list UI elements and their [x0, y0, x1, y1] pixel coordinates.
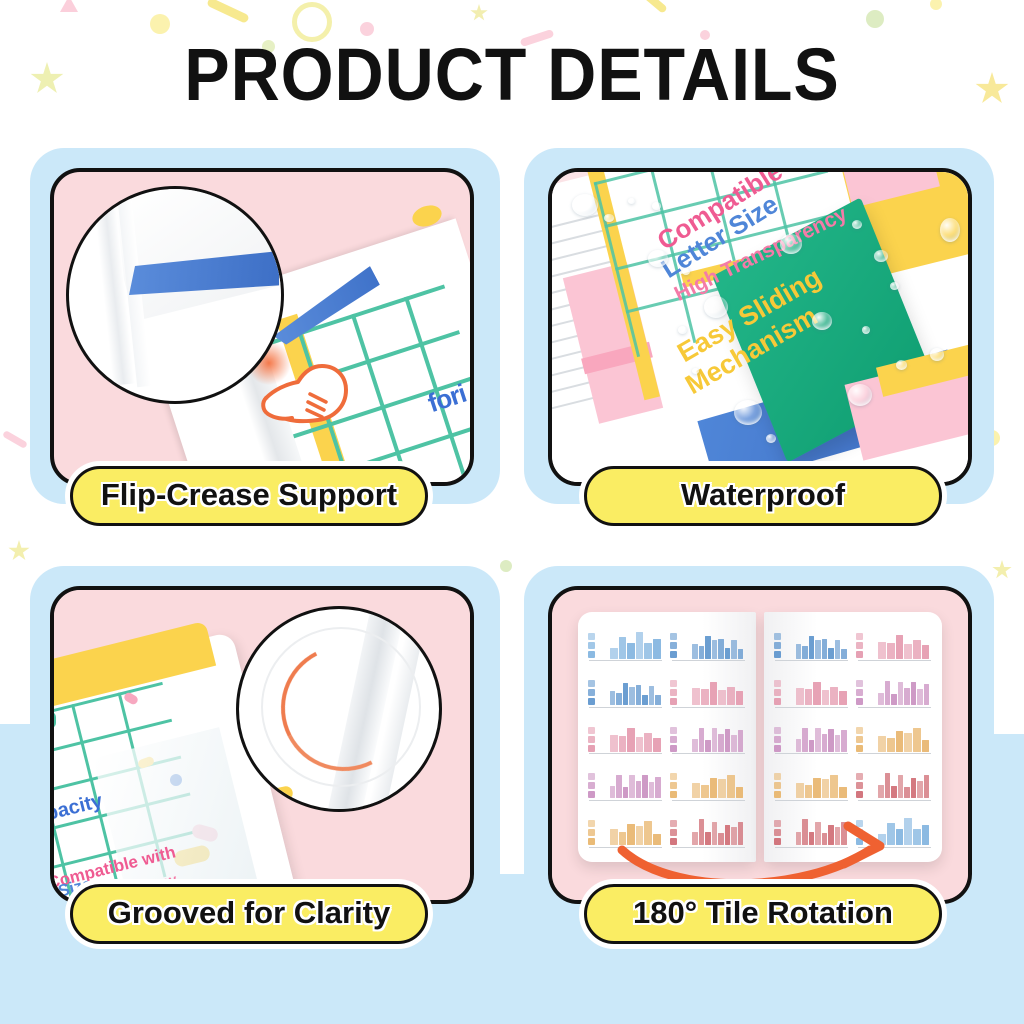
- panel-label-flip-crease-support[interactable]: Flip-Crease Support: [70, 466, 428, 526]
- water-droplet: [682, 268, 690, 275]
- chart-axis: [858, 753, 931, 754]
- chart-bar: [705, 740, 710, 752]
- chart-bar: [922, 645, 930, 659]
- chart-legend: [774, 773, 781, 798]
- water-droplet: [930, 348, 944, 361]
- panel-grooved-for-clarity[interactable]: rge Capacity Compatible with Size arency…: [30, 566, 500, 958]
- chart-bar: [619, 637, 627, 659]
- chart-bar: [828, 729, 833, 752]
- chart-bar: [699, 728, 704, 752]
- chart-bar: [841, 649, 846, 659]
- chart-bar: [692, 644, 697, 659]
- chart-bar: [710, 778, 718, 799]
- legend-swatch: [856, 689, 863, 696]
- panel-waterproof[interactable]: Compatible with Letter Size High Transpa…: [524, 148, 994, 540]
- chart-bar: [878, 642, 886, 659]
- chart-bar: [627, 728, 635, 752]
- chart-bar: [610, 735, 618, 752]
- chart-bars: [692, 723, 743, 752]
- chart-axis: [775, 753, 848, 754]
- chart-axis: [775, 800, 848, 801]
- chart-bar: [610, 648, 618, 659]
- chart-bars: [878, 723, 929, 752]
- chart-legend: [588, 820, 595, 845]
- chart-bar: [692, 783, 700, 799]
- legend-swatch: [670, 698, 677, 705]
- chart-bar: [727, 775, 735, 799]
- chart-bar: [610, 786, 615, 798]
- chart-axis: [858, 800, 931, 801]
- chart-thumbnail: [855, 762, 935, 806]
- chart-bar: [649, 782, 654, 799]
- chart-thumbnail: [669, 762, 749, 806]
- legend-swatch: [670, 782, 677, 789]
- chart-bar: [922, 740, 930, 752]
- chart-bar: [644, 643, 652, 659]
- chart-bar: [705, 636, 710, 658]
- water-droplet: [812, 312, 832, 330]
- legend-swatch: [670, 727, 677, 734]
- legend-swatch: [774, 698, 781, 705]
- chart-bars: [692, 630, 743, 659]
- panel-tile-rotation[interactable]: 180° Tile Rotation: [524, 566, 994, 958]
- legend-swatch: [856, 736, 863, 743]
- chart-thumbnail: [669, 715, 749, 759]
- chart-bar: [904, 688, 909, 706]
- water-droplet: [766, 434, 776, 443]
- chart-bar: [736, 787, 744, 799]
- chart-bar: [904, 787, 909, 799]
- legend-swatch: [856, 642, 863, 649]
- chart-bar: [802, 728, 807, 752]
- legend-swatch: [774, 773, 781, 780]
- chart-bar: [896, 731, 904, 752]
- legend-swatch: [588, 642, 595, 649]
- chart-bar: [731, 640, 736, 659]
- chart-bar: [887, 643, 895, 659]
- panel-label-grooved-for-clarity[interactable]: Grooved for Clarity: [70, 884, 428, 944]
- chart-axis: [858, 707, 931, 708]
- chart-bar: [623, 683, 628, 705]
- chart-bar: [619, 736, 627, 752]
- dot-icon: [150, 14, 170, 34]
- chart-thumbnail: [586, 715, 666, 759]
- chart-bar: [839, 787, 847, 799]
- chart-bar: [885, 773, 890, 799]
- chart-bars: [878, 676, 929, 705]
- chart-axis: [672, 707, 745, 708]
- chart-bar: [627, 643, 635, 659]
- water-droplet: [734, 400, 762, 425]
- chart-bar: [796, 644, 801, 659]
- chart-bar: [896, 635, 904, 659]
- chart-legend: [856, 680, 863, 705]
- legend-swatch: [588, 651, 595, 658]
- chart-bar: [725, 648, 730, 658]
- chart-legend: [856, 633, 863, 658]
- chart-bar: [828, 648, 833, 658]
- panel-photo: rge Capacity Compatible with Size arency: [50, 586, 474, 904]
- legend-swatch: [856, 745, 863, 752]
- legend-swatch: [588, 820, 595, 827]
- water-droplet: [652, 202, 661, 210]
- chart-thumbnail-grid: [586, 622, 748, 852]
- chart-bar: [924, 775, 929, 798]
- legend-swatch: [856, 791, 863, 798]
- chart-bar: [636, 781, 641, 799]
- chart-bar: [822, 639, 827, 659]
- chart-bar: [727, 687, 735, 706]
- legend-swatch: [588, 689, 595, 696]
- legend-swatch: [774, 782, 781, 789]
- chart-bar: [712, 640, 717, 658]
- chart-bar: [891, 694, 896, 706]
- chart-bar: [904, 818, 912, 845]
- legend-swatch: [774, 745, 781, 752]
- chart-bar: [738, 649, 743, 659]
- legend-swatch: [774, 736, 781, 743]
- legend-swatch: [588, 782, 595, 789]
- chart-bar: [616, 693, 621, 705]
- magnifier-circle: [66, 186, 284, 404]
- chart-bar: [887, 738, 895, 752]
- curved-arrow-icon: [612, 820, 902, 890]
- chart-legend: [588, 680, 595, 705]
- chart-axis: [589, 660, 662, 661]
- chart-bar: [815, 728, 820, 752]
- chart-bars: [878, 630, 929, 659]
- chart-thumbnail: [772, 669, 852, 713]
- legend-swatch: [670, 736, 677, 743]
- legend-swatch: [588, 745, 595, 752]
- chart-legend: [774, 633, 781, 658]
- chart-bar: [796, 739, 801, 751]
- chart-bars: [610, 630, 661, 659]
- legend-swatch: [588, 791, 595, 798]
- legend-swatch: [774, 727, 781, 734]
- chart-bar: [623, 787, 628, 799]
- chart-bars: [692, 770, 743, 799]
- chart-bar: [885, 681, 890, 705]
- chart-legend: [774, 727, 781, 752]
- legend-swatch: [774, 651, 781, 658]
- water-droplet: [628, 198, 635, 204]
- chart-bar: [911, 778, 916, 798]
- chart-bar: [813, 778, 821, 799]
- chart-thumbnail: [586, 669, 666, 713]
- chart-bar: [809, 636, 814, 658]
- legend-swatch: [670, 773, 677, 780]
- legend-swatch: [670, 745, 677, 752]
- chart-bar: [815, 640, 820, 658]
- legend-swatch: [774, 633, 781, 640]
- bar-icon: [206, 0, 250, 24]
- chart-bar: [692, 739, 697, 751]
- chart-bar: [878, 693, 883, 705]
- chart-bar: [830, 687, 838, 706]
- chart-bar: [805, 785, 813, 799]
- infographic-canvas: PRODUCT DETAILS: [0, 0, 1024, 1024]
- chart-bar: [839, 691, 847, 705]
- chart-thumbnail: [772, 622, 852, 666]
- chart-bar: [725, 729, 730, 752]
- chart-legend: [856, 773, 863, 798]
- legend-swatch: [856, 727, 863, 734]
- panel-photo: [548, 586, 972, 904]
- chart-thumbnail: [669, 669, 749, 713]
- chart-axis: [589, 707, 662, 708]
- chart-bar: [653, 639, 661, 659]
- chart-bar: [736, 691, 744, 705]
- chart-thumbnail: [855, 715, 935, 759]
- chart-bar: [796, 688, 804, 705]
- chart-bar: [655, 777, 660, 799]
- chart-bar: [642, 775, 647, 798]
- chart-legend: [670, 680, 677, 705]
- chart-bar: [642, 695, 647, 705]
- legend-swatch: [588, 838, 595, 845]
- chart-bar: [655, 695, 660, 705]
- chart-bar: [718, 639, 723, 659]
- chart-bars: [610, 676, 661, 705]
- chart-bar: [710, 682, 718, 706]
- chart-bar: [701, 689, 709, 705]
- chart-legend: [670, 727, 677, 752]
- chart-axis: [672, 800, 745, 801]
- chart-legend: [670, 633, 677, 658]
- chart-bar: [616, 775, 621, 799]
- chart-bar: [835, 640, 840, 659]
- chart-axis: [589, 800, 662, 801]
- water-droplet: [604, 214, 614, 222]
- chart-bar: [653, 738, 661, 752]
- chart-thumbnail: [772, 715, 852, 759]
- chart-thumbnail: [855, 622, 935, 666]
- chart-bar: [610, 691, 615, 706]
- legend-swatch: [856, 782, 863, 789]
- chart-bar: [835, 735, 840, 752]
- chart-axis: [858, 660, 931, 661]
- chart-bar: [738, 730, 743, 752]
- legend-swatch: [588, 736, 595, 743]
- dot-icon: [930, 0, 942, 10]
- star-icon: [992, 560, 1012, 580]
- chart-bars: [610, 770, 661, 799]
- chart-bar: [878, 785, 883, 799]
- legend-swatch: [856, 651, 863, 658]
- water-droplet: [896, 360, 907, 370]
- chart-axis: [672, 753, 745, 754]
- chart-bar: [898, 682, 903, 706]
- legend-swatch: [670, 633, 677, 640]
- legend-swatch: [670, 791, 677, 798]
- water-droplet: [678, 326, 687, 334]
- chart-axis: [775, 707, 848, 708]
- bar-icon: [632, 0, 668, 14]
- bar-icon: [2, 430, 28, 449]
- chart-legend: [588, 773, 595, 798]
- chart-bar: [898, 775, 903, 798]
- water-droplet: [874, 250, 888, 262]
- legend-swatch: [856, 773, 863, 780]
- panel-photo: fori: [50, 168, 474, 486]
- water-droplet: [704, 296, 728, 318]
- chart-bar: [636, 737, 644, 752]
- legend-swatch: [588, 680, 595, 687]
- legend-swatch: [588, 773, 595, 780]
- water-droplet: [890, 282, 899, 290]
- chart-bars: [692, 676, 743, 705]
- chart-bar: [644, 733, 652, 752]
- legend-swatch: [588, 829, 595, 836]
- water-droplet: [852, 220, 862, 229]
- chart-bar: [802, 646, 807, 658]
- water-droplet: [848, 384, 872, 406]
- chart-bar: [699, 646, 704, 658]
- magnifier-circle: [236, 606, 442, 812]
- chart-bar: [891, 786, 896, 799]
- panel-flip-crease-support[interactable]: fori: [30, 148, 500, 540]
- water-droplet: [862, 326, 870, 334]
- chart-bar: [822, 779, 830, 798]
- legend-swatch: [856, 680, 863, 687]
- legend-swatch: [774, 642, 781, 649]
- chart-thumbnail: [669, 622, 749, 666]
- chart-bar: [809, 740, 814, 752]
- legend-swatch: [774, 689, 781, 696]
- chart-bar: [922, 825, 930, 845]
- panel-label-tile-rotation[interactable]: 180° Tile Rotation: [584, 884, 942, 944]
- chart-bar: [913, 640, 921, 659]
- triangle-icon: [60, 0, 78, 12]
- chart-axis: [589, 753, 662, 754]
- chart-bars: [796, 770, 847, 799]
- panel-grid: fori: [30, 148, 994, 958]
- chart-bar: [904, 733, 912, 752]
- legend-swatch: [670, 680, 677, 687]
- chart-legend: [774, 680, 781, 705]
- legend-swatch: [774, 680, 781, 687]
- chart-bar: [841, 730, 846, 752]
- star-icon: [470, 4, 488, 22]
- chart-bar: [718, 690, 726, 705]
- water-droplet: [940, 218, 960, 242]
- chart-thumbnail: [586, 762, 666, 806]
- chart-bar: [629, 775, 634, 799]
- chart-thumbnail: [772, 762, 852, 806]
- chart-bar: [813, 682, 821, 706]
- chart-bar: [796, 783, 804, 799]
- legend-swatch: [856, 633, 863, 640]
- chart-bar: [917, 781, 922, 799]
- chart-bar: [649, 686, 654, 705]
- chart-bars: [796, 723, 847, 752]
- water-droplet: [648, 250, 668, 267]
- chart-bar: [822, 734, 827, 752]
- page-title: PRODUCT DETAILS: [41, 38, 983, 112]
- star-icon: [8, 540, 30, 562]
- chart-bar: [924, 684, 929, 706]
- chart-thumbnail: [586, 622, 666, 666]
- chart-thumbnail-grid: [772, 622, 934, 852]
- chart-legend: [588, 633, 595, 658]
- chart-bar: [911, 682, 916, 705]
- chart-bar: [822, 690, 830, 705]
- chart-bar: [692, 688, 700, 705]
- chart-thumbnail: [855, 669, 935, 713]
- chart-bar: [731, 735, 736, 752]
- chart-bar: [830, 775, 838, 799]
- water-droplet: [780, 234, 802, 254]
- chart-bar: [878, 736, 886, 752]
- legend-swatch: [670, 651, 677, 658]
- legend-swatch: [856, 698, 863, 705]
- legend-swatch: [588, 633, 595, 640]
- chart-bar: [718, 734, 723, 752]
- chart-bars: [796, 676, 847, 705]
- panel-label-waterproof[interactable]: Waterproof: [584, 466, 942, 526]
- legend-swatch: [774, 791, 781, 798]
- chart-bar: [913, 829, 921, 845]
- chart-bars: [796, 630, 847, 659]
- chart-legend: [670, 773, 677, 798]
- chart-bar: [712, 728, 717, 752]
- chart-bar: [636, 632, 644, 659]
- panel-photo: Compatible with Letter Size High Transpa…: [548, 168, 972, 486]
- dot-icon: [866, 10, 884, 28]
- chart-axis: [672, 660, 745, 661]
- chart-legend: [856, 727, 863, 752]
- water-droplet: [692, 368, 699, 374]
- chart-bar: [701, 785, 709, 799]
- chart-axis: [775, 660, 848, 661]
- chart-bars: [878, 770, 929, 799]
- chart-bar: [718, 779, 726, 798]
- legend-swatch: [670, 689, 677, 696]
- legend-swatch: [588, 727, 595, 734]
- water-droplet: [572, 194, 598, 216]
- chart-bar: [913, 728, 921, 752]
- legend-swatch: [670, 642, 677, 649]
- legend-swatch: [588, 698, 595, 705]
- chart-bar: [917, 689, 922, 706]
- pointing-hand-icon: [260, 354, 352, 432]
- chart-legend: [588, 727, 595, 752]
- chart-bar: [805, 689, 813, 705]
- chart-bar: [629, 687, 634, 705]
- chart-bar: [636, 685, 641, 705]
- chart-bars: [610, 723, 661, 752]
- chart-bar: [904, 644, 912, 659]
